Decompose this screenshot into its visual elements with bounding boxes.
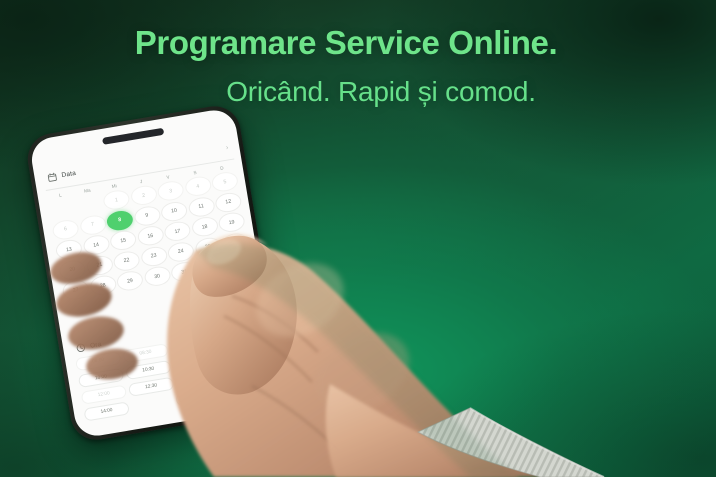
calendar-day[interactable]: 9 [133,204,162,227]
calendar-day[interactable]: 23 [139,245,168,268]
calendar-day[interactable]: 22 [112,249,141,272]
smartphone: Data › LMaMiJVSD 12345678910111213141516… [24,102,287,443]
calendar-day[interactable]: 20 [58,258,87,281]
calendar-day: 1 [102,188,131,211]
calendar-icon [47,172,57,182]
calendar-day[interactable]: 17 [163,220,192,243]
phone-speaker [101,128,163,145]
page-title: Programare Service Online. [0,24,692,63]
headline-block: Programare Service Online. Oricând. Rapi… [0,24,716,109]
calendar-day[interactable]: 24 [166,240,195,263]
chevron-right-icon[interactable]: › [225,144,228,151]
calendar-day[interactable]: 15 [109,229,138,252]
clock-icon [76,343,86,353]
calendar-day[interactable]: 30 [143,265,172,288]
calendar-day[interactable]: 10 [160,200,189,223]
calendar-day[interactable]: 11 [187,195,216,218]
calendar-day[interactable]: 14 [82,233,111,256]
calendar-day-blank [48,198,77,221]
calendar-day: 2 [129,184,158,207]
time-label: Ora [90,341,102,350]
calendar-day[interactable]: 12 [214,190,243,213]
phone-screen: Data › LMaMiJVSD 12345678910111213141516… [28,107,282,439]
time-section-header: Ora [76,340,103,353]
calendar-day: 4 [183,175,212,198]
calendar-day: 6 [51,218,80,241]
calendar-day[interactable]: 31 [170,260,199,283]
calendar-day: 3 [156,179,185,202]
calendar-day[interactable]: 29 [116,269,145,292]
page-subtitle: Oricând. Rapid și comod. [0,75,692,109]
calendar-day[interactable]: 16 [136,224,165,247]
calendar-day[interactable]: 26 [221,231,250,254]
calendar-day[interactable]: 21 [85,254,114,277]
date-label: Data [61,169,76,178]
calendar-day[interactable]: 19 [217,211,246,234]
calendar-day[interactable]: 25 [194,235,223,258]
calendar-day[interactable]: 28 [88,274,117,297]
calendar-day-selected[interactable]: 8 [105,209,134,232]
phone-body: Data › LMaMiJVSD 12345678910111213141516… [24,102,287,443]
calendar-day: 5 [211,170,240,193]
calendar-day[interactable]: 27 [61,278,90,301]
calendar-day-blank [75,193,104,216]
calendar-day: 7 [78,213,107,236]
promo-banner: Data › LMaMiJVSD 12345678910111213141516… [0,0,716,477]
calendar-day[interactable]: 13 [55,238,84,261]
calendar-day[interactable]: 18 [190,215,219,238]
